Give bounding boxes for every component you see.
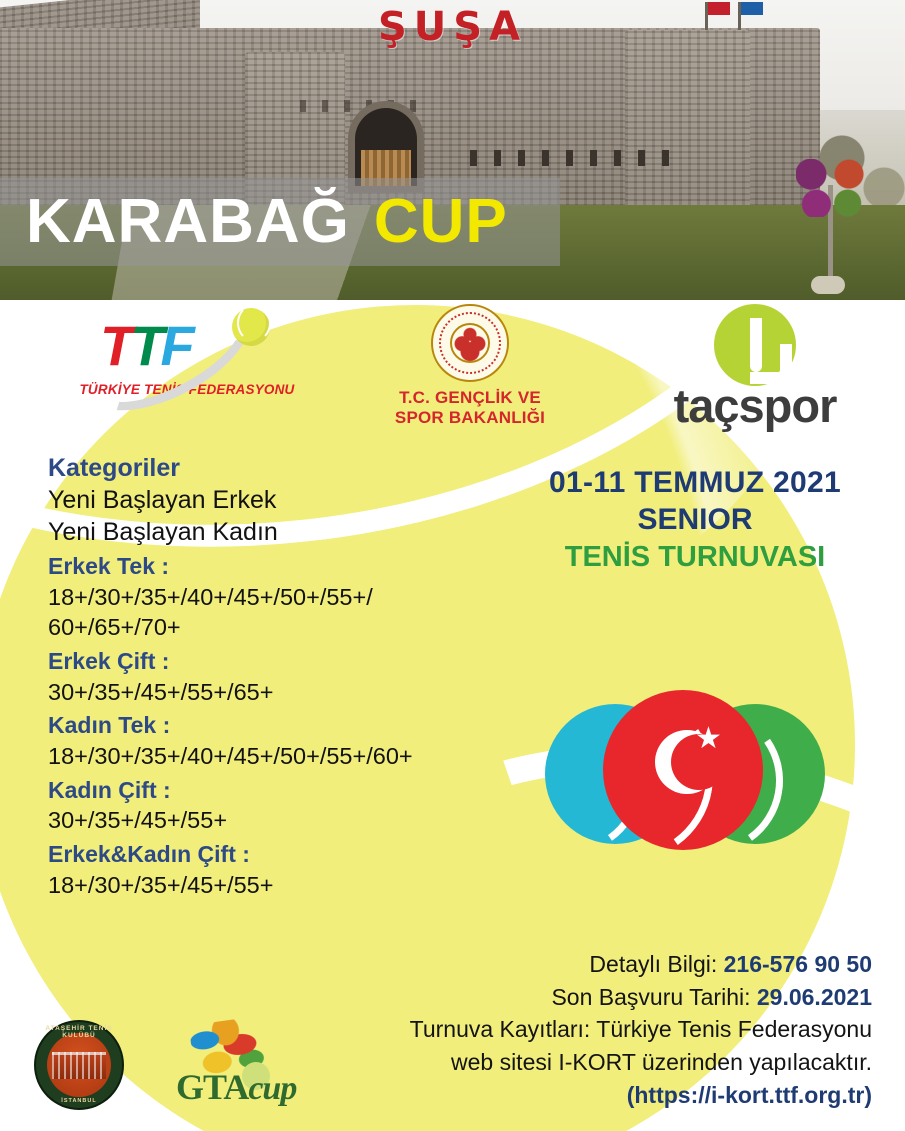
category-label-mixed-doubles: Erkek&Kadın Çift : <box>48 839 518 870</box>
ttf-letter-2: T <box>130 314 160 377</box>
category-values-mens-singles-1: 18+/30+/35+/40+/45+/50+/55+/ <box>48 582 518 613</box>
foreground-rock <box>811 276 845 294</box>
event-level: SENIOR <box>500 501 890 539</box>
tacspor-wordmark: taçspor <box>625 382 885 429</box>
category-values-mixed-doubles: 18+/30+/35+/45+/55+ <box>48 870 518 901</box>
contact-info-label: Detaylı Bilgi: <box>589 951 717 977</box>
ministry-seal-icon <box>431 304 509 382</box>
tennis-ball-red-turkish-flag: ★ <box>603 690 763 850</box>
categories-block: Kategoriler Yeni Başlayan Erkek Yeni Baş… <box>48 452 518 900</box>
gtacup-wordmark: GTAcup <box>176 1066 296 1108</box>
category-values-mens-singles-2: 60+/65+/70+ <box>48 612 518 643</box>
deadline-label: Son Başvuru Tarihi: <box>551 984 750 1010</box>
susa-sign-text: ŞUŞA <box>0 4 905 50</box>
fortress-gate <box>355 108 417 186</box>
category-values-womens-doubles: 30+/35+/45+/55+ <box>48 805 518 836</box>
category-beginner-women: Yeni Başlayan Kadın <box>48 516 518 548</box>
poster-body: TTF TÜRKİYE TENİS FEDERASYONU T.C. GENÇL… <box>0 300 905 1131</box>
ministry-name-line1: T.C. GENÇLİK VE <box>355 388 585 408</box>
atasehir-ring-bottom: İSTANBUL <box>36 1098 122 1104</box>
event-name: TENİS TURNUVASI <box>500 539 890 575</box>
contact-info-line: Detaylı Bilgi: 216-576 90 50 <box>330 948 872 981</box>
category-label-womens-doubles: Kadın Çift : <box>48 775 518 806</box>
gtacup-word-main: GTA <box>176 1067 248 1107</box>
registration-line-1: Turnuva Kayıtları: Türkiye Tenis Federas… <box>330 1013 872 1046</box>
event-dates: 01-11 TEMMUZ 2021 <box>500 465 890 501</box>
ttf-tennis-ball-icon <box>232 308 270 346</box>
registration-url[interactable]: (https://i-kort.ttf.org.tr) <box>330 1079 872 1112</box>
wall-arrow-slits <box>470 150 670 166</box>
title-cup: CUP <box>374 191 508 253</box>
category-beginner-men: Yeni Başlayan Erkek <box>48 484 518 516</box>
atasehir-ring-text: ATAŞEHİR TENİS KULÜBÜ İSTANBUL <box>36 1022 122 1108</box>
tacspor-logo: taçspor <box>625 300 885 429</box>
contact-block: Detaylı Bilgi: 216-576 90 50 Son Başvuru… <box>330 948 890 1111</box>
ttf-mark: TTF <box>62 306 312 384</box>
ttf-letter-1: T <box>100 314 130 377</box>
three-tennis-balls-graphic: ★ <box>545 690 875 870</box>
ttf-letters: TTF <box>100 318 191 374</box>
categories-heading: Kategoriler <box>48 452 518 484</box>
tournament-poster: ŞUŞA KARABAĞ CUP TTF TÜRKİYE TENİS <box>0 0 905 1131</box>
poster-title: KARABAĞ CUP <box>0 180 905 264</box>
ministry-logo: T.C. GENÇLİK VE SPOR BAKANLIĞI <box>355 304 585 427</box>
category-label-mens-singles: Erkek Tek : <box>48 551 518 582</box>
wall-arrow-slits-upper <box>300 100 420 112</box>
atasehir-tennis-club-logo: ATAŞEHİR TENİS KULÜBÜ İSTANBUL <box>36 1022 122 1108</box>
contact-phone-number: 216-576 90 50 <box>724 951 872 977</box>
sponsor-logos-row: TTF TÜRKİYE TENİS FEDERASYONU T.C. GENÇL… <box>0 300 905 440</box>
category-values-womens-singles: 18+/30+/35+/40+/45+/50+/55+/60+ <box>48 741 518 772</box>
deadline-date: 29.06.2021 <box>757 984 872 1010</box>
category-label-mens-doubles: Erkek Çift : <box>48 646 518 677</box>
event-headline: 01-11 TEMMUZ 2021 SENIOR TENİS TURNUVASI <box>500 465 890 575</box>
title-karabag: KARABAĞ <box>26 191 350 253</box>
gtacup-logo: GTAcup <box>170 1020 340 1112</box>
fortress-photo-banner: ŞUŞA KARABAĞ CUP <box>0 0 905 300</box>
gtacup-word-suffix: cup <box>248 1070 296 1107</box>
tacspor-circle-icon <box>714 304 796 386</box>
ttf-letter-3: F <box>160 314 190 377</box>
ministry-name: T.C. GENÇLİK VE SPOR BAKANLIĞI <box>355 388 585 427</box>
star-icon: ★ <box>695 724 722 754</box>
registration-line-2: web sitesi I-KORT üzerinden yapılacaktır… <box>330 1046 872 1079</box>
atasehir-ring-top: ATAŞEHİR TENİS KULÜBÜ <box>36 1025 122 1039</box>
category-values-mens-doubles: 30+/35+/45+/55+/65+ <box>48 677 518 708</box>
ministry-name-line2: SPOR BAKANLIĞI <box>355 408 585 428</box>
category-label-womens-singles: Kadın Tek : <box>48 710 518 741</box>
deadline-line: Son Başvuru Tarihi: 29.06.2021 <box>330 981 872 1014</box>
ttf-logo: TTF TÜRKİYE TENİS FEDERASYONU <box>62 306 312 397</box>
